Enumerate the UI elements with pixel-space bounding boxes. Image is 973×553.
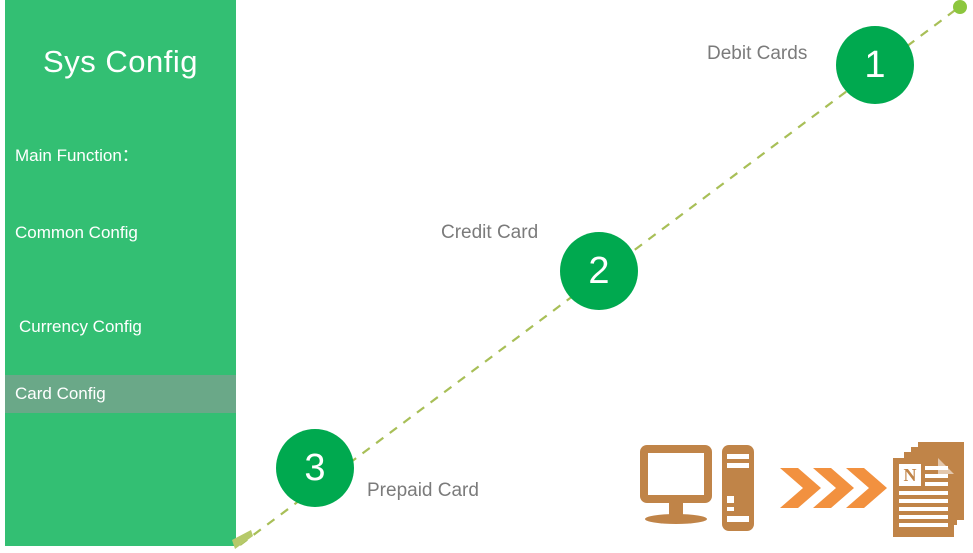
sidebar-item-label: Main Function： [5, 141, 236, 166]
endpoint-dot-icon [953, 0, 967, 14]
sidebar-item-main-function: Main Function： [5, 141, 236, 166]
step-circle-1[interactable]: 1 [836, 26, 914, 104]
sidebar-item-currency-config[interactable]: Currency Config [5, 317, 236, 337]
step-circle-3[interactable]: 3 [276, 429, 354, 507]
triple-chevron-right-icon [780, 468, 887, 508]
sidebar-item-common-config[interactable]: Common Config [5, 223, 236, 243]
page-title: Sys Config [5, 44, 236, 80]
document-badge-letter: N [904, 465, 917, 485]
sidebar-item-card-config[interactable]: Card Config [5, 375, 236, 413]
step-circle-2[interactable]: 2 [560, 232, 638, 310]
process-icon-group: N [638, 440, 968, 540]
sidebar: Sys Config Main Function： Common Config … [5, 0, 236, 546]
diagram-canvas: Sys Config Main Function： Common Config … [0, 0, 973, 553]
sidebar-item-label: Currency Config [5, 317, 236, 337]
sidebar-item-label: Common Config [5, 223, 236, 243]
document-stack-icon: N [893, 442, 964, 537]
sidebar-item-label: Card Config [5, 375, 236, 413]
step-label-debit-cards: Debit Cards [707, 43, 807, 65]
step-label-prepaid-card: Prepaid Card [367, 480, 479, 502]
step-label-credit-card: Credit Card [441, 222, 538, 244]
desktop-computer-icon [640, 445, 754, 531]
